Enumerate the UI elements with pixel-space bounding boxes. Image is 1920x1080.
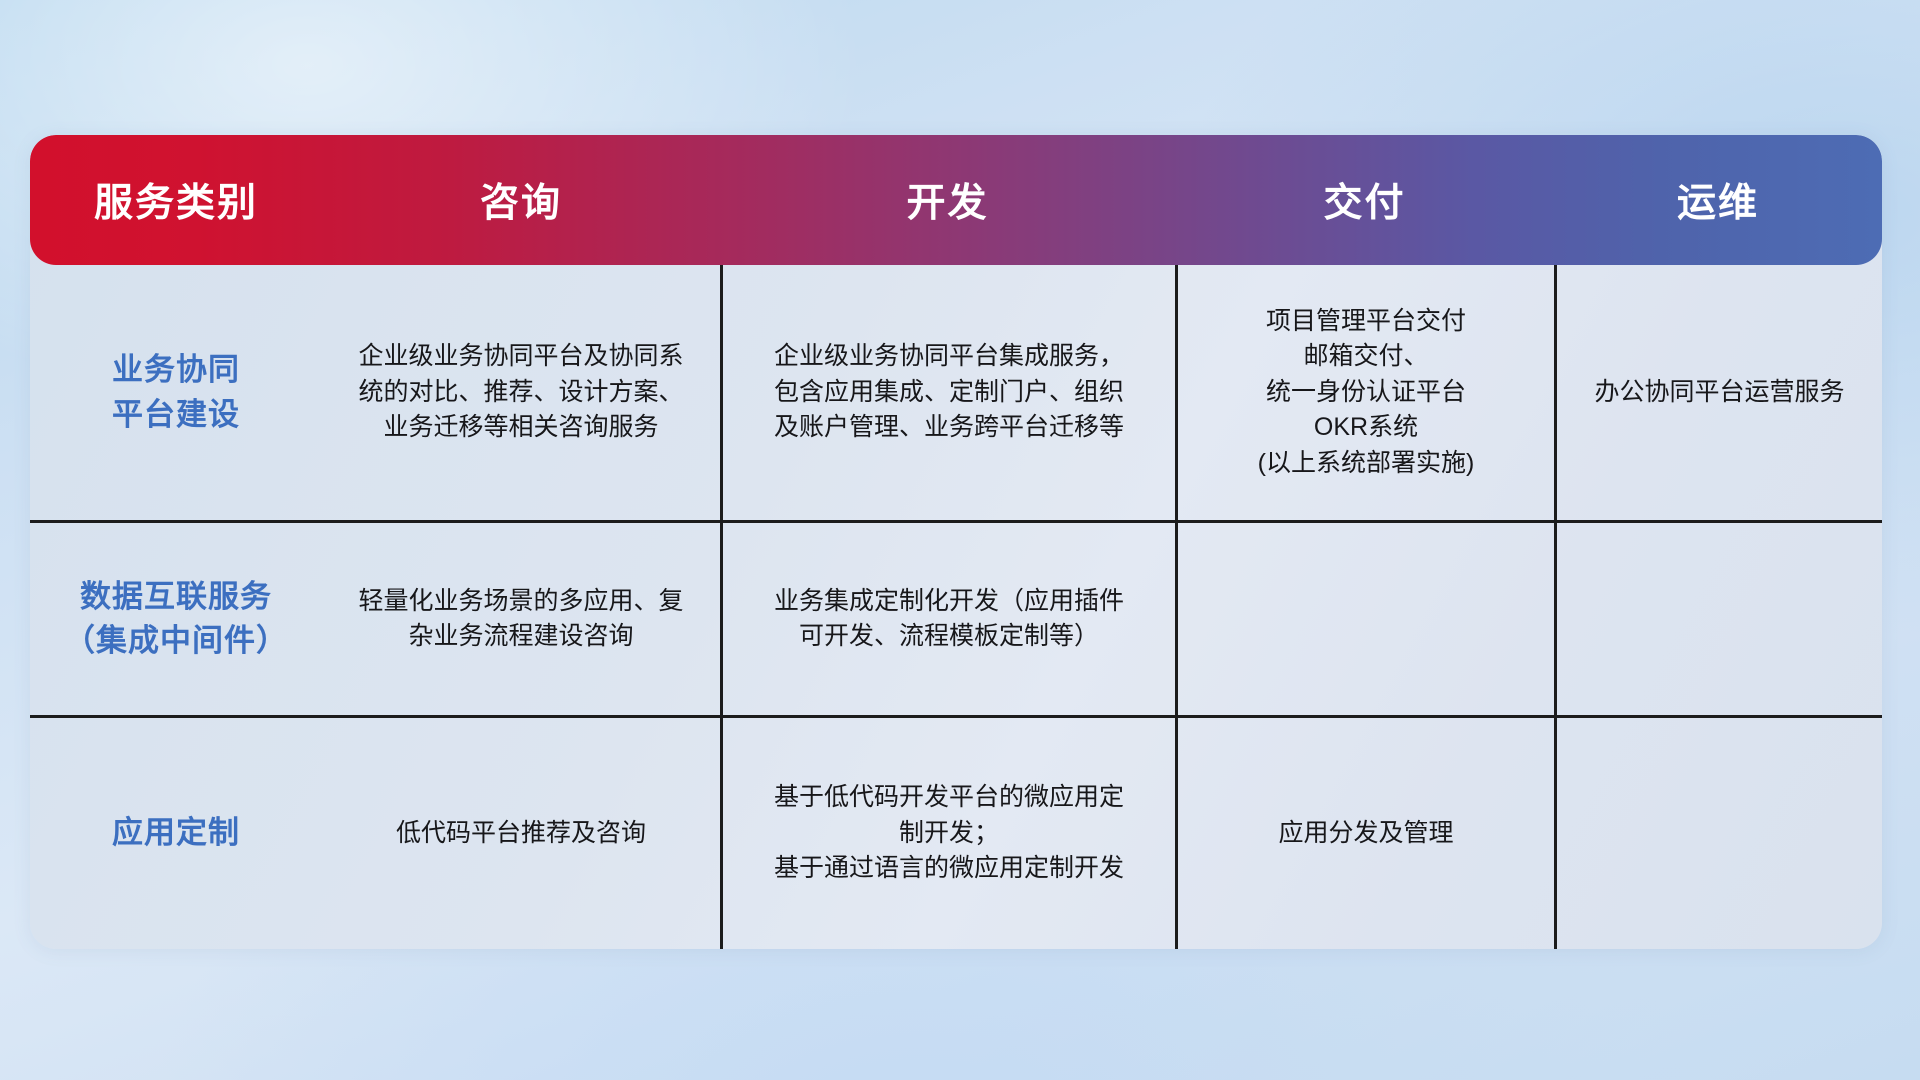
cell-consulting: 轻量化业务场景的多应用、复 杂业务流程建设咨询 <box>322 523 720 715</box>
cell-text: 办公协同平台运营服务 <box>1594 375 1844 411</box>
cell-text: 项目管理平台交付 邮箱交付、 统一身份认证平台 OKR系统 (以上系统部署实施) <box>1258 304 1475 482</box>
row-category-label: 数据互联服务 （集成中间件） <box>64 575 288 663</box>
cell-operations <box>1554 523 1882 715</box>
cell-text: 业务集成定制化开发（应用插件 可开发、流程模板定制等） <box>774 584 1124 655</box>
cell-delivery: 应用分发及管理 <box>1175 718 1554 949</box>
cell-development: 业务集成定制化开发（应用插件 可开发、流程模板定制等） <box>720 523 1175 715</box>
row-category-label: 业务协同 平台建设 <box>112 348 240 436</box>
table-row: 数据互联服务 （集成中间件） 轻量化业务场景的多应用、复 杂业务流程建设咨询 业… <box>30 523 1882 718</box>
table-body: 业务协同 平台建设 企业级业务协同平台及协同系 统的对比、推荐、设计方案、 业务… <box>30 265 1882 949</box>
slide-canvas: 服务类别 咨询 开发 交付 运维 业务协同 平台建设 企业级业务协同平台及协同系… <box>0 0 1920 1080</box>
cell-text: 企业级业务协同平台集成服务， 包含应用集成、定制门户、组织 及账户管理、业务跨平… <box>774 339 1124 446</box>
cell-operations: 办公协同平台运营服务 <box>1554 265 1882 520</box>
column-header-consulting: 咨询 <box>322 172 720 228</box>
table-header-row: 服务类别 咨询 开发 交付 运维 <box>30 135 1882 265</box>
cell-development: 企业级业务协同平台集成服务， 包含应用集成、定制门户、组织 及账户管理、业务跨平… <box>720 265 1175 520</box>
table-row: 业务协同 平台建设 企业级业务协同平台及协同系 统的对比、推荐、设计方案、 业务… <box>30 265 1882 523</box>
cell-text: 企业级业务协同平台及协同系 统的对比、推荐、设计方案、 业务迁移等相关咨询服务 <box>358 339 683 446</box>
cell-delivery <box>1175 523 1554 715</box>
row-category-cell: 数据互联服务 （集成中间件） <box>30 523 322 715</box>
table-row: 应用定制 低代码平台推荐及咨询 基于低代码开发平台的微应用定 制开发； 基于通过… <box>30 718 1882 949</box>
cell-text: 低代码平台推荐及咨询 <box>396 816 646 852</box>
row-category-cell: 应用定制 <box>30 718 322 949</box>
cell-development: 基于低代码开发平台的微应用定 制开发； 基于通过语言的微应用定制开发 <box>720 718 1175 949</box>
cell-delivery: 项目管理平台交付 邮箱交付、 统一身份认证平台 OKR系统 (以上系统部署实施) <box>1175 265 1554 520</box>
column-header-operations: 运维 <box>1554 172 1882 228</box>
cell-consulting: 低代码平台推荐及咨询 <box>322 718 720 949</box>
cell-text: 轻量化业务场景的多应用、复 杂业务流程建设咨询 <box>358 584 683 655</box>
row-category-cell: 业务协同 平台建设 <box>30 265 322 520</box>
cell-text: 应用分发及管理 <box>1278 816 1453 852</box>
row-category-label: 应用定制 <box>112 811 240 855</box>
column-header-category: 服务类别 <box>30 172 322 228</box>
column-header-development: 开发 <box>720 172 1175 228</box>
cell-operations <box>1554 718 1882 949</box>
cell-text: 基于低代码开发平台的微应用定 制开发； 基于通过语言的微应用定制开发 <box>774 780 1124 887</box>
column-header-delivery: 交付 <box>1175 172 1554 228</box>
cell-consulting: 企业级业务协同平台及协同系 统的对比、推荐、设计方案、 业务迁移等相关咨询服务 <box>322 265 720 520</box>
service-matrix-table: 服务类别 咨询 开发 交付 运维 业务协同 平台建设 企业级业务协同平台及协同系… <box>30 135 1882 949</box>
